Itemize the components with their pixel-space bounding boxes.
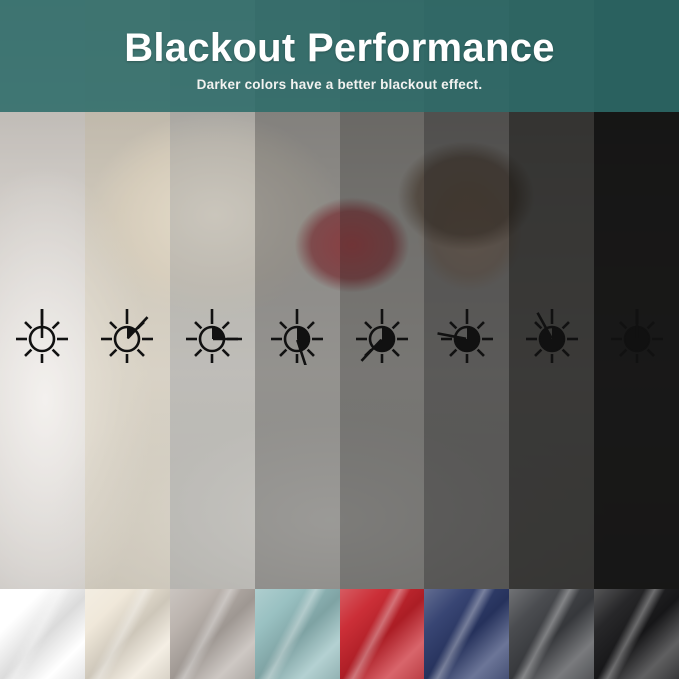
brightness-dial-icon bbox=[0, 290, 85, 380]
brightness-dial-icon bbox=[340, 290, 425, 380]
fabric-sample bbox=[170, 589, 255, 679]
fabric-sample bbox=[0, 589, 85, 679]
fabric-sample bbox=[594, 589, 679, 679]
fabric-sample bbox=[509, 589, 594, 679]
brightness-dial-icon bbox=[424, 290, 509, 380]
brightness-dial-icon bbox=[170, 290, 255, 380]
brightness-dial-icon bbox=[594, 290, 679, 380]
brightness-dial-icon bbox=[509, 290, 594, 380]
fabric-sample bbox=[255, 589, 340, 679]
fabric-sample bbox=[340, 589, 425, 679]
page-title: Blackout Performance bbox=[124, 27, 555, 69]
header-banner: Blackout Performance Darker colors have … bbox=[0, 0, 679, 112]
page-subtitle: Darker colors have a better blackout eff… bbox=[197, 77, 483, 92]
brightness-dial-icon bbox=[85, 290, 170, 380]
brightness-dial-icon bbox=[255, 290, 340, 380]
fabric-sample bbox=[85, 589, 170, 679]
fabric-sample-row bbox=[0, 589, 679, 679]
product-infographic: Blackout Performance Darker colors have … bbox=[0, 0, 679, 679]
fabric-sample bbox=[424, 589, 509, 679]
brightness-icon-row bbox=[0, 290, 679, 380]
